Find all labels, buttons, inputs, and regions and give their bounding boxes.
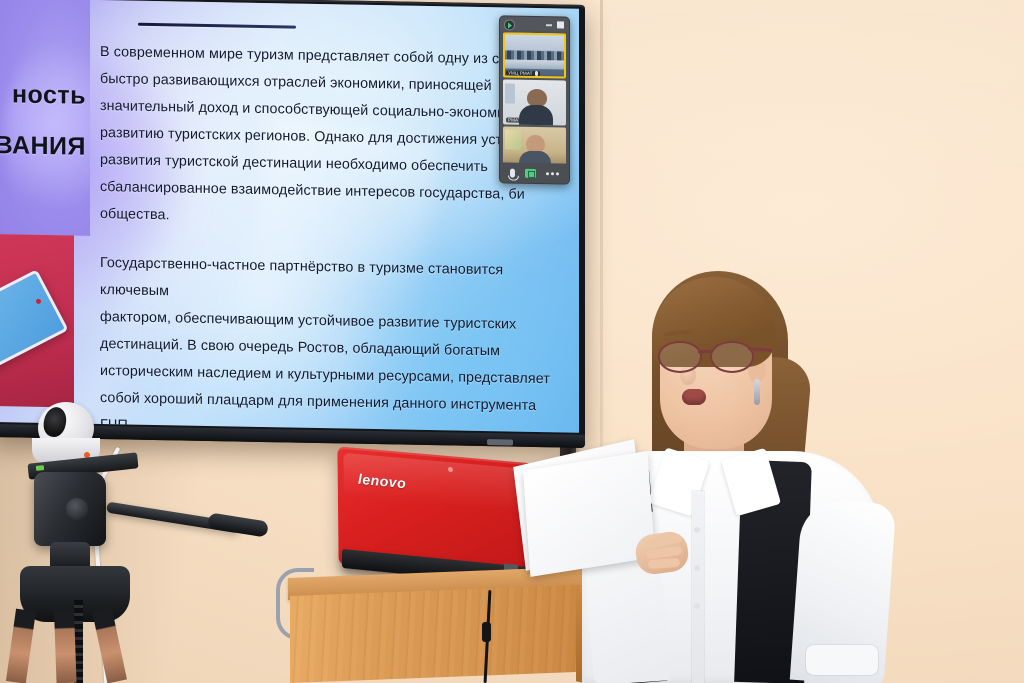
slide-left-panel: ность ВАНИЯ xyxy=(0,0,90,424)
screen-share-icon[interactable] xyxy=(525,168,536,177)
pan-handle-grip[interactable] xyxy=(207,512,269,537)
mouth xyxy=(682,389,706,405)
display-brand-strip xyxy=(487,439,513,445)
presentation-scene: ность ВАНИЯ В современном мире туризм пр… xyxy=(0,0,1024,683)
more-dot xyxy=(556,172,559,175)
tripod-leg xyxy=(54,610,77,683)
slide-line-3: значительный доход и способствующей соци… xyxy=(100,98,521,122)
shirt-placket xyxy=(692,491,704,683)
participant-tile-1[interactable]: УМЦ РМАТ xyxy=(503,32,566,78)
slide-line-4: развитию туристских регионов. Однако для… xyxy=(100,125,518,149)
microphone-icon[interactable] xyxy=(510,168,515,177)
laptop-lid-dot xyxy=(448,467,453,472)
wood-grain-texture xyxy=(290,584,592,683)
slide-line-6: сбалансированное взаимодействие интересо… xyxy=(100,179,525,203)
slide-line-2: быстро развивающихся отраслей экономики,… xyxy=(100,71,492,94)
nose xyxy=(680,365,696,385)
slide-line-7: общества. xyxy=(100,206,170,223)
maximize-icon[interactable] xyxy=(557,21,564,28)
video-call-toolbar xyxy=(500,162,569,183)
tripod-leg xyxy=(6,609,36,683)
video-conference-window[interactable]: УМЦ РМАТ РМАТ РМАТ xyxy=(499,15,570,184)
more-dot xyxy=(546,172,549,175)
podium-front-panel xyxy=(290,584,592,683)
background-map xyxy=(505,129,521,149)
eyeglasses xyxy=(658,341,766,369)
participant-label-2: РМАТ РМАТ xyxy=(508,117,535,122)
mic-icon xyxy=(535,71,538,76)
video-window-titlebar[interactable] xyxy=(500,16,569,31)
shirt-cuff xyxy=(806,645,878,675)
display-screen: ность ВАНИЯ В современном мире туризм пр… xyxy=(0,0,579,433)
left-panel-title-line-2: ВАНИЯ xyxy=(0,131,86,162)
left-panel-title-line-1: ность xyxy=(12,80,86,110)
tripod-leg xyxy=(92,608,127,683)
slide-divider-top xyxy=(138,23,296,29)
mic-icon xyxy=(537,118,540,123)
more-options-icon[interactable] xyxy=(546,172,559,175)
paper-sheet xyxy=(523,451,655,577)
slide-line-11: историческим наследием и культурными рес… xyxy=(100,363,550,387)
play-logo-icon xyxy=(504,19,515,30)
tripod-adjust-knob[interactable] xyxy=(66,498,88,520)
participant-tiles: УМЦ РМАТ РМАТ РМАТ xyxy=(500,30,569,174)
participant-name-badge-1: УМЦ РМАТ xyxy=(506,70,540,76)
earring xyxy=(754,379,760,405)
slide-line-1: В современном мире туризм представляет с… xyxy=(100,44,528,68)
participant-label-1: УМЦ РМАТ xyxy=(508,70,533,75)
power-cable-ferrite xyxy=(482,622,491,642)
more-dot xyxy=(551,172,554,175)
slide-line-10: дестинаций. В свою очередь Ростов, облад… xyxy=(100,336,500,359)
left-panel-purple-block xyxy=(0,0,90,236)
shirt-button xyxy=(694,603,700,609)
participant-name-badge-2: РМАТ РМАТ xyxy=(506,117,542,123)
wall-mounted-display: ность ВАНИЯ В современном мире туризм пр… xyxy=(0,0,585,448)
minimize-icon[interactable] xyxy=(546,24,552,26)
wooden-podium xyxy=(288,578,598,683)
background-monitor xyxy=(505,83,515,103)
camera-tripod-rig xyxy=(10,400,260,683)
tablet-dot xyxy=(36,299,41,304)
presenter xyxy=(560,265,890,683)
slide-text-body: В современном мире туризм представляет с… xyxy=(100,22,553,433)
shirt-button xyxy=(694,565,700,571)
shirt-button xyxy=(694,527,700,533)
slide-paragraph-1: В современном мире туризм представляет с… xyxy=(100,39,553,236)
glasses-lens-left xyxy=(658,341,702,373)
slide-line-8: Государственно-частное партнёрство в тур… xyxy=(100,255,503,299)
glasses-lens-right xyxy=(710,341,754,373)
participant-tile-2[interactable]: РМАТ РМАТ xyxy=(503,79,566,125)
slide-line-9: фактором, обеспечивающим устойчивое разв… xyxy=(100,309,516,333)
glasses-bridge xyxy=(698,350,711,353)
slide-line-5: развития туристской дестинации необходим… xyxy=(100,152,488,175)
